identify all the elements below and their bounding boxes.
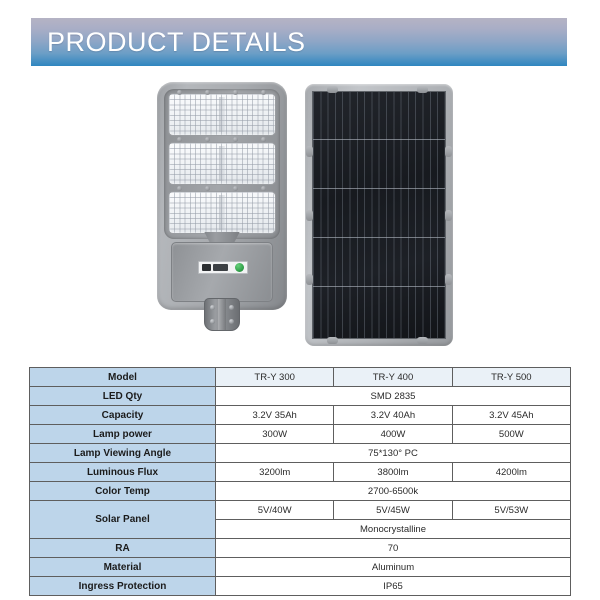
spec-value-cell: 3800lm xyxy=(334,463,452,482)
table-row: LED QtySMD 2835 xyxy=(30,387,571,406)
housing-screw xyxy=(261,137,266,142)
spec-value-cell: IP65 xyxy=(216,577,571,596)
spec-value-cell: 3.2V 45Ah xyxy=(452,406,570,425)
table-row: Lamp power300W400W500W xyxy=(30,425,571,444)
lamp-housing xyxy=(157,82,287,310)
solar-cell-divider xyxy=(313,237,445,238)
mounting-bracket xyxy=(204,298,240,331)
spec-label-cell: Luminous Flux xyxy=(30,463,216,482)
spec-value-cell: 75*130° PC xyxy=(216,444,571,463)
spec-label-cell: Color Temp xyxy=(30,482,216,501)
led-module-1 xyxy=(168,93,276,136)
panel-frame-tab xyxy=(327,337,338,344)
spec-value-cell: 400W xyxy=(334,425,452,444)
spec-value-cell: 500W xyxy=(452,425,570,444)
table-row: ModelTR-Y 300TR-Y 400TR-Y 500 xyxy=(30,368,571,387)
spec-label-cell: Ingress Protection xyxy=(30,577,216,596)
housing-screw xyxy=(177,137,182,142)
table-row: Ingress ProtectionIP65 xyxy=(30,577,571,596)
housing-screw xyxy=(261,90,266,95)
specification-table: ModelTR-Y 300TR-Y 400TR-Y 500LED QtySMD … xyxy=(29,367,571,596)
housing-screw xyxy=(177,90,182,95)
bracket-bolt xyxy=(229,319,234,324)
spec-label-cell: RA xyxy=(30,539,216,558)
spec-label-cell: Capacity xyxy=(30,406,216,425)
page-header-banner: PRODUCT DETAILS xyxy=(31,18,567,66)
housing-screw xyxy=(177,186,182,191)
housing-screw xyxy=(233,137,238,142)
page-title: PRODUCT DETAILS xyxy=(31,27,306,58)
table-row: MaterialAluminum xyxy=(30,558,571,577)
housing-screw xyxy=(261,186,266,191)
product-details-page: PRODUCT DETAILS xyxy=(0,0,600,600)
spec-value-cell: TR-Y 300 xyxy=(216,368,334,387)
spec-value-cell: 4200lm xyxy=(452,463,570,482)
table-row: Luminous Flux3200lm3800lm4200lm xyxy=(30,463,571,482)
table-row: RA70 xyxy=(30,539,571,558)
solar-cell-divider xyxy=(313,188,445,189)
spec-value-cell: 5V/40W xyxy=(216,501,334,520)
panel-frame-tab xyxy=(417,86,428,93)
housing-screw xyxy=(233,186,238,191)
panel-frame-tab xyxy=(445,274,452,285)
panel-frame-tab xyxy=(445,146,452,157)
lcd-display-icon xyxy=(202,264,211,271)
panel-frame-tab xyxy=(445,210,452,221)
panel-frame-tab xyxy=(327,86,338,93)
bracket-bolt xyxy=(210,319,215,324)
housing-screw xyxy=(205,90,210,95)
panel-frame-tab xyxy=(306,146,313,157)
solar-cell-divider xyxy=(313,286,445,287)
table-row: Capacity3.2V 35Ah3.2V 40Ah3.2V 45Ah xyxy=(30,406,571,425)
spec-value-cell: 5V/53W xyxy=(452,501,570,520)
street-light-image xyxy=(157,82,287,327)
control-box xyxy=(171,242,273,302)
spec-value-cell: SMD 2835 xyxy=(216,387,571,406)
spec-value-cell: TR-Y 500 xyxy=(452,368,570,387)
spec-value-cell: 3.2V 40Ah xyxy=(334,406,452,425)
panel-frame-tab xyxy=(417,337,428,344)
specification-table-body: ModelTR-Y 300TR-Y 400TR-Y 500LED QtySMD … xyxy=(30,368,571,596)
control-bar-icon xyxy=(213,264,228,271)
spec-value-cell: 3.2V 35Ah xyxy=(216,406,334,425)
housing-screw xyxy=(233,90,238,95)
spec-value-cell: 2700-6500k xyxy=(216,482,571,501)
panel-frame-tab xyxy=(306,274,313,285)
power-button-icon xyxy=(235,263,244,272)
panel-frame-tab xyxy=(306,210,313,221)
spec-label-cell: Lamp power xyxy=(30,425,216,444)
spec-value-cell: 5V/45W xyxy=(334,501,452,520)
led-module-2 xyxy=(168,142,276,185)
spec-label-cell: Lamp Viewing Angle xyxy=(30,444,216,463)
solar-panel-image xyxy=(305,84,453,346)
table-row: Color Temp2700-6500k xyxy=(30,482,571,501)
spec-label-cell: Material xyxy=(30,558,216,577)
led-module-3 xyxy=(168,191,276,234)
spec-label-cell: LED Qty xyxy=(30,387,216,406)
spec-value-cell: 300W xyxy=(216,425,334,444)
control-panel-label xyxy=(198,261,248,274)
bracket-bolt xyxy=(229,305,234,310)
housing-screw xyxy=(205,186,210,191)
spec-value-cell: Aluminum xyxy=(216,558,571,577)
solar-cell-divider xyxy=(313,139,445,140)
product-image-group xyxy=(0,78,600,350)
spec-value-cell: TR-Y 400 xyxy=(334,368,452,387)
table-row: Solar Panel5V/40W5V/45W5V/53W xyxy=(30,501,571,520)
solar-panel-glass xyxy=(312,91,446,339)
spec-value-cell: 70 xyxy=(216,539,571,558)
housing-screw xyxy=(205,137,210,142)
spec-label-cell: Solar Panel xyxy=(30,501,216,539)
bracket-bolt xyxy=(210,305,215,310)
spec-label-cell: Model xyxy=(30,368,216,387)
spec-value-cell: Monocrystalline xyxy=(216,520,571,539)
table-row: Lamp Viewing Angle75*130° PC xyxy=(30,444,571,463)
spec-value-cell: 3200lm xyxy=(216,463,334,482)
